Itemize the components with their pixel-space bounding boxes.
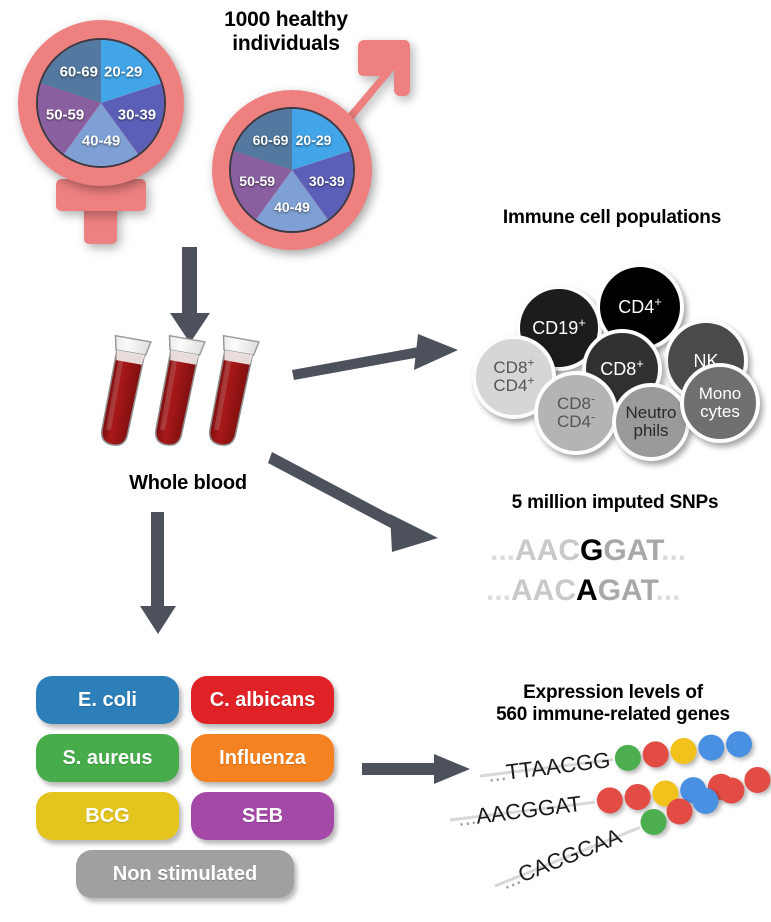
expression-title: Expression levels of 560 immune-related … <box>462 682 764 726</box>
snp2-variant: A <box>576 574 598 607</box>
strand-sequence: ...CACGCAA <box>498 823 626 895</box>
stimulus-s-aureus[interactable]: S. aureus <box>36 734 179 782</box>
immune-cell-label: Monocytes <box>699 385 742 421</box>
snp1-suffix: GAT <box>603 534 661 567</box>
female-symbol: 20-2930-3940-4950-5960-69 <box>12 14 192 249</box>
snp2-tail: ... <box>655 574 680 607</box>
stimulus-seb[interactable]: SEB <box>191 792 334 840</box>
immune-cell-CD8nCD4n: CD8-CD4- <box>534 371 618 455</box>
stimuli-panel: E. coliC. albicansS. aureusInfluenzaBCGS… <box>36 676 336 896</box>
snp2-suffix: GAT <box>598 574 656 607</box>
stimulus-bcg[interactable]: BCG <box>36 792 179 840</box>
female-age-pie: 20-2930-3940-4950-5960-69 <box>36 38 166 168</box>
immune-cell-label: CD8+ <box>600 360 644 379</box>
immune-cell-label: CD8-CD4- <box>557 395 595 431</box>
male-symbol: 20-2930-3940-4950-5960-69 <box>206 32 416 252</box>
age-label-50-59: 50-59 <box>239 173 275 189</box>
expression-bead <box>725 730 754 759</box>
expression-bead <box>697 733 726 762</box>
snp1-tail: ... <box>661 534 686 567</box>
snp1-lead: ... <box>490 534 515 567</box>
strand-sequence: ...AACGGAT <box>456 791 583 832</box>
age-label-30-39: 30-39 <box>309 173 345 189</box>
blood-tubes-icon <box>96 330 286 455</box>
whole-blood-group <box>96 330 286 455</box>
age-label-40-49: 40-49 <box>82 132 120 149</box>
expression-bead <box>641 740 670 769</box>
expression-bead <box>740 763 771 797</box>
age-label-20-29: 20-29 <box>296 132 332 148</box>
expression-strands-group: ...TTAACGG...AACGGAT...CACGCAA <box>460 740 771 922</box>
cohort-title-line1: 1000 healthy <box>178 8 394 32</box>
arrow-down-blood-to-stimuli <box>136 512 180 637</box>
age-label-30-39: 30-39 <box>118 106 156 123</box>
immune-cell-label: CD8+CD4+ <box>493 359 534 395</box>
male-age-pie: 20-2930-3940-4950-5960-69 <box>229 107 355 233</box>
immune-cell-label: CD19+ <box>532 319 586 338</box>
snp2-lead: ... <box>486 574 511 607</box>
immune-cell-populations-title: Immune cell populations <box>462 207 762 229</box>
whole-blood-label: Whole blood <box>88 472 288 495</box>
age-label-20-29: 20-29 <box>104 64 142 81</box>
snp1-variant: G <box>580 534 603 567</box>
age-label-60-69: 60-69 <box>253 132 289 148</box>
figure-canvas: 1000 healthy individuals 20-2930-3940-49… <box>0 0 771 922</box>
snps-title: 5 million imputed SNPs <box>470 492 760 514</box>
immune-cell-label: CD4+ <box>618 298 662 317</box>
age-label-50-59: 50-59 <box>46 106 84 123</box>
snp-allele-2: ...AACAGAT... <box>486 574 680 608</box>
immune-cell-Neutrophils: Neutrophils <box>612 383 690 461</box>
expression-bead <box>669 737 698 766</box>
snp-sequences: ...AACGGAT... ...AACAGAT... <box>480 530 760 620</box>
expression-title-line2: 560 immune-related genes <box>462 704 764 726</box>
strand-sequence: ...TTAACGG <box>486 747 611 788</box>
expression-bead <box>595 786 624 815</box>
snp1-prefix: AAC <box>515 534 580 567</box>
stimulus-non-stimulated[interactable]: Non stimulated <box>76 850 294 898</box>
stimulus-c-albicans[interactable]: C. albicans <box>191 676 334 724</box>
expression-bead <box>613 743 642 772</box>
immune-cell-Monocytes: Monocytes <box>680 363 760 443</box>
stimulus-e-coli[interactable]: E. coli <box>36 676 179 724</box>
snp2-prefix: AAC <box>511 574 576 607</box>
age-label-40-49: 40-49 <box>274 199 310 215</box>
arrow-blood-to-immune-cells <box>292 330 462 380</box>
snp-allele-1: ...AACGGAT... <box>490 534 686 568</box>
immune-cell-label: Neutrophils <box>625 404 676 440</box>
immune-cell-populations-group: CD19+CD4+NKCD8+CD8+CD4+CD8-CD4-Neutrophi… <box>472 243 762 428</box>
arrow-blood-to-snps <box>272 452 452 557</box>
arrow-stimuli-to-expression <box>362 752 472 786</box>
expression-title-line1: Expression levels of <box>462 682 764 704</box>
stimulus-influenza[interactable]: Influenza <box>191 734 334 782</box>
age-label-60-69: 60-69 <box>60 64 98 81</box>
